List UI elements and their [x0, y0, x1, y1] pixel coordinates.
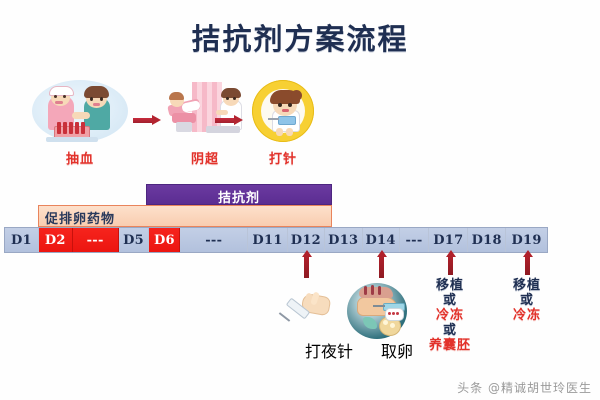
step-caption: 抽血: [32, 148, 128, 167]
cell-label: D5: [123, 233, 144, 248]
option-line: 或: [485, 293, 569, 308]
cell-label: D13: [328, 233, 358, 248]
timeline-cell-d19[interactable]: D19: [506, 228, 547, 252]
cell-label: D12: [291, 233, 321, 248]
option-line: 移植: [408, 278, 492, 293]
blood-draw-illustration: [32, 80, 128, 146]
step-injection: 打针: [248, 80, 318, 167]
infographic-canvas: 拮抗剂方案流程: [0, 0, 600, 400]
timeline-cell-d2[interactable]: D2: [39, 228, 73, 252]
option-line: 冷冻: [408, 308, 492, 323]
marker-transfer-d17: [450, 256, 451, 275]
page-title: 拮抗剂方案流程: [0, 16, 600, 58]
antagonist-bar-label: 拮抗剂: [147, 187, 331, 206]
illustration-row: 抽血: [0, 78, 600, 170]
antagonist-bar: 拮抗剂: [146, 184, 332, 205]
timeline-cell-gap1[interactable]: ---: [73, 228, 119, 252]
timeline-cell-d18[interactable]: D18: [468, 228, 506, 252]
cell-label: D17: [433, 233, 463, 248]
option-line: 移植: [485, 278, 569, 293]
option-line: 养囊胚: [408, 338, 492, 353]
cell-label: D1: [11, 233, 32, 248]
night-injection-caption-wrap: 打夜针: [305, 338, 353, 362]
transvaginal-ultrasound-illustration: [162, 80, 248, 146]
cell-label: D2: [45, 233, 66, 248]
night-injection-illustration: [272, 285, 338, 337]
timeline-cell-d6[interactable]: D6: [149, 228, 180, 252]
step-blood-draw: 抽血: [32, 80, 128, 167]
option-line: 冷冻: [485, 308, 569, 323]
timeline-cell-d13[interactable]: D13: [325, 228, 363, 252]
option-line: 或: [408, 323, 492, 338]
option-line: 或: [408, 293, 492, 308]
cell-label: D11: [252, 233, 282, 248]
arrow-blood-to-ultrasound: [133, 116, 161, 125]
timeline-cell-d14[interactable]: D14: [363, 228, 400, 252]
step-caption: 阴超: [162, 148, 248, 167]
timeline-cell-d12[interactable]: D12: [288, 228, 325, 252]
marker-egg-retrieval: [381, 256, 382, 278]
options-column-d19: 移植 或 冷冻: [485, 278, 569, 323]
cell-label: D6: [154, 233, 175, 248]
timeline-cell-d1[interactable]: D1: [5, 228, 39, 252]
arrow-ultrasound-to-injection: [215, 116, 243, 125]
stimulation-drug-bar: 促排卵药物: [38, 205, 332, 227]
step-caption: 打针: [248, 148, 318, 167]
watermark: 头条 @精诚胡世玲医生: [457, 379, 592, 396]
cell-label: D14: [365, 233, 395, 248]
day-timeline: D1 D2 --- D5 D6 --- D11 D12 D13 D14 --- …: [4, 227, 548, 253]
timeline-cell-gap2[interactable]: ---: [180, 228, 248, 252]
cell-label: ---: [405, 233, 422, 248]
marker-transfer-d19: [527, 256, 528, 275]
cell-label: D19: [511, 233, 541, 248]
marker-night-injection: [306, 256, 307, 278]
marker-caption: 打夜针: [305, 338, 353, 362]
injection-illustration: [248, 80, 318, 146]
options-column-d17: 移植 或 冷冻 或 养囊胚: [408, 278, 492, 353]
egg-retrieval-illustration: [347, 283, 411, 341]
timeline-cell-d17[interactable]: D17: [429, 228, 468, 252]
cell-label: D18: [472, 233, 502, 248]
cell-label: ---: [205, 233, 222, 248]
cell-label: ---: [87, 233, 104, 248]
timeline-cell-d11[interactable]: D11: [248, 228, 288, 252]
stimulation-drug-bar-label: 促排卵药物: [45, 208, 115, 227]
timeline-cell-d5[interactable]: D5: [119, 228, 150, 252]
timeline-cell-gap3[interactable]: ---: [400, 228, 430, 252]
